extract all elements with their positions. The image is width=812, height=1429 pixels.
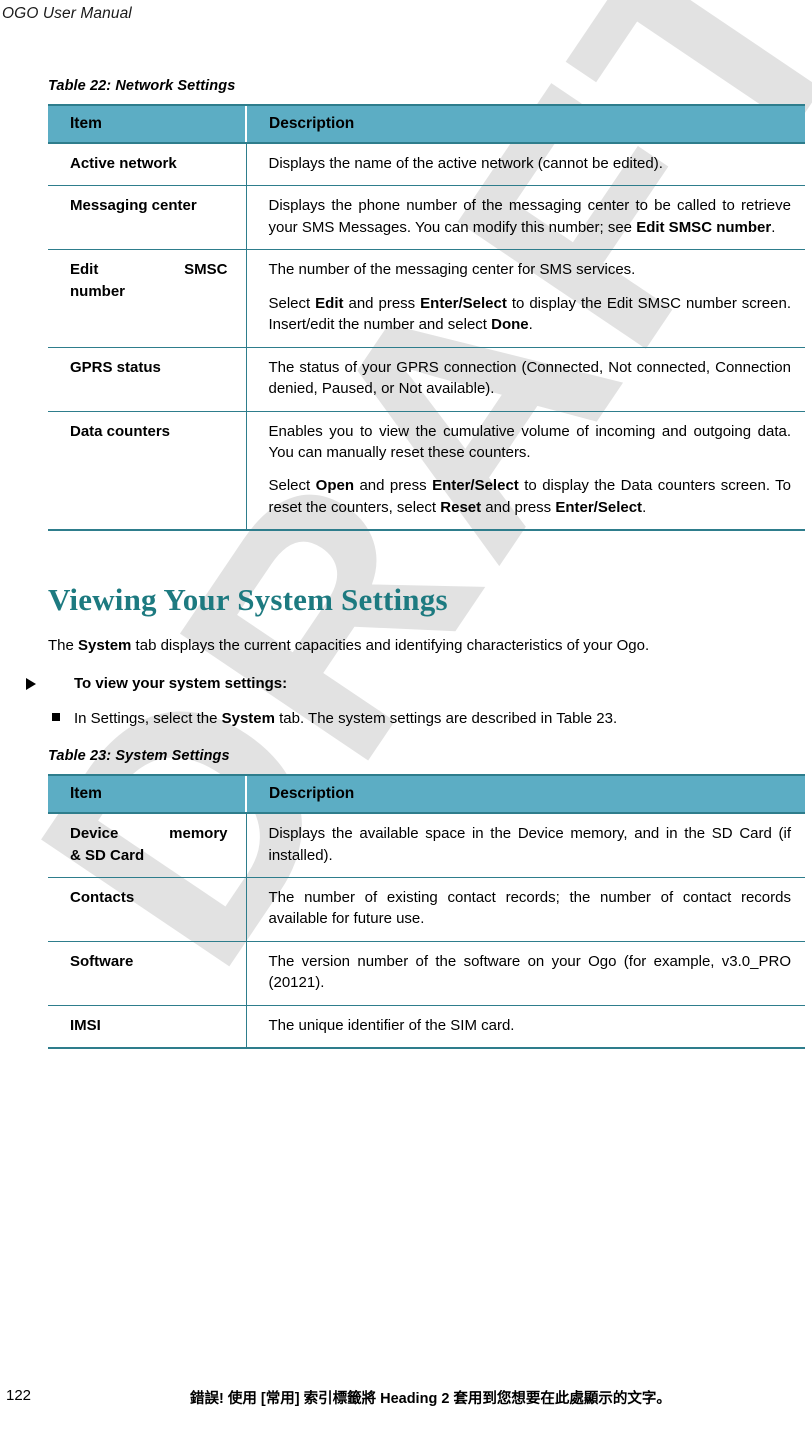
body-text: tab. The system settings are described i… [275,710,617,727]
footer-note: 錯誤! 使用 [常用] 索引標籤將 Heading 2 套用到您想要在此處顯示的… [190,1387,671,1408]
body-text: In Settings, select the [74,710,222,727]
cell-description: Displays the phone number of the messagi… [246,186,805,250]
emphasis-text: Edit SMSC number [636,219,771,236]
description-paragraph: Displays the available space in the Devi… [269,823,792,866]
table-row: IMSIThe unique identifier of the SIM car… [48,1005,805,1048]
body-text: The [48,637,78,654]
body-text: The unique identifier of the SIM card. [269,1017,515,1034]
description-paragraph: Displays the name of the active network … [269,153,792,174]
emphasis-text: System [78,637,131,654]
square-bullet-icon [52,713,60,721]
table-network-settings: Item Description Active networkDisplays … [48,104,805,531]
section-heading: Viewing Your System Settings [48,583,810,617]
cell-item-line: & SD Card [70,845,240,866]
cell-item-line: Edit SMSC [70,259,240,280]
column-header-item: Item [48,105,246,143]
page-number: 122 [6,1387,31,1404]
running-header: OGO User Manual [2,5,132,23]
body-text: The status of your GPRS connection (Conn… [269,359,792,397]
cell-item: Contacts [48,877,246,941]
body-text: The version number of the software on yo… [269,953,792,991]
cell-item: Software [48,941,246,1005]
cell-item-line: Device memory [70,823,240,844]
table-row: SoftwareThe version number of the softwa… [48,941,805,1005]
body-text: . [529,316,533,333]
description-paragraph: Select Open and press Enter/Select to di… [269,475,792,518]
cell-description: The unique identifier of the SIM card. [246,1005,805,1048]
description-paragraph: Enables you to view the cumulative volum… [269,421,792,464]
body-text: and press [481,499,555,516]
emphasis-text: System [222,710,275,727]
description-paragraph: The number of the messaging center for S… [269,259,792,280]
cell-item: IMSI [48,1005,246,1048]
body-text: tab displays the current capacities and … [131,637,649,654]
description-paragraph: The version number of the software on yo… [269,951,792,994]
cell-description: The status of your GPRS connection (Conn… [246,347,805,411]
table-header-row: Item Description [48,775,805,813]
table-row: GPRS statusThe status of your GPRS conne… [48,347,805,411]
body-text: The number of existing contact records; … [269,889,792,927]
procedure-heading-label: To view your system settings: [74,675,287,692]
body-text: Enables you to view the cumulative volum… [269,423,792,461]
table-row: ContactsThe number of existing contact r… [48,877,805,941]
table-23-caption: Table 23: System Settings [48,748,810,764]
body-text: The number of the messaging center for S… [269,261,636,278]
cell-description: Enables you to view the cumulative volum… [246,411,805,530]
cell-item: Device memory& SD Card [48,813,246,877]
description-paragraph: Displays the phone number of the messagi… [269,195,792,238]
body-text: . [642,499,646,516]
table-22-body: Active networkDisplays the name of the a… [48,143,805,530]
emphasis-text: Edit [315,295,343,312]
body-text: Select [269,477,316,494]
table-row: Edit SMSCnumberThe number of the messagi… [48,250,805,347]
cell-description: The version number of the software on yo… [246,941,805,1005]
emphasis-text: Done [491,316,529,333]
triangle-bullet-icon [26,678,36,690]
cell-description: Displays the name of the active network … [246,143,805,186]
cell-item: GPRS status [48,347,246,411]
cell-item: Data counters [48,411,246,530]
emphasis-text: Enter/Select [555,499,642,516]
emphasis-text: Open [316,477,354,494]
description-paragraph: The unique identifier of the SIM card. [269,1015,792,1036]
table-row: Data countersEnables you to view the cum… [48,411,805,530]
body-text: and press [354,477,432,494]
cell-description: The number of the messaging center for S… [246,250,805,347]
description-paragraph: The number of existing contact records; … [269,887,792,930]
procedure-heading: To view your system settings: [48,675,810,692]
description-paragraph: The status of your GPRS connection (Conn… [269,357,792,400]
page-footer: 122 錯誤! 使用 [常用] 索引標籤將 Heading 2 套用到您想要在此… [0,1387,812,1413]
body-text: Displays the available space in the Devi… [269,825,792,863]
page-content: Table 22: Network Settings Item Descript… [48,78,810,1049]
body-text: and press [344,295,421,312]
cell-item: Edit SMSCnumber [48,250,246,347]
cell-item: Messaging center [48,186,246,250]
column-header-item: Item [48,775,246,813]
body-text: Displays the name of the active network … [269,155,663,172]
cell-description: The number of existing contact records; … [246,877,805,941]
description-paragraph: Select Edit and press Enter/Select to di… [269,293,792,336]
document-page: OGO User Manual Table 22: Network Settin… [0,0,812,1429]
table-row: Messaging centerDisplays the phone numbe… [48,186,805,250]
column-header-description: Description [246,775,805,813]
procedure-step: In Settings, select the System tab. The … [48,708,810,729]
cell-item: Active network [48,143,246,186]
table-header-row: Item Description [48,105,805,143]
body-text: . [771,219,775,236]
body-text: Select [269,295,316,312]
emphasis-text: Enter/Select [420,295,507,312]
procedure-step-text: In Settings, select the System tab. The … [74,710,617,727]
emphasis-text: Enter/Select [432,477,519,494]
column-header-description: Description [246,105,805,143]
section-intro-paragraph: The System tab displays the current capa… [48,635,810,657]
cell-item-line: number [70,281,240,302]
table-row: Active networkDisplays the name of the a… [48,143,805,186]
table-row: Device memory& SD CardDisplays the avail… [48,813,805,877]
table-system-settings: Item Description Device memory& SD CardD… [48,774,805,1049]
table-22-caption: Table 22: Network Settings [48,78,810,94]
emphasis-text: Reset [440,499,481,516]
table-23-body: Device memory& SD CardDisplays the avail… [48,813,805,1048]
cell-description: Displays the available space in the Devi… [246,813,805,877]
